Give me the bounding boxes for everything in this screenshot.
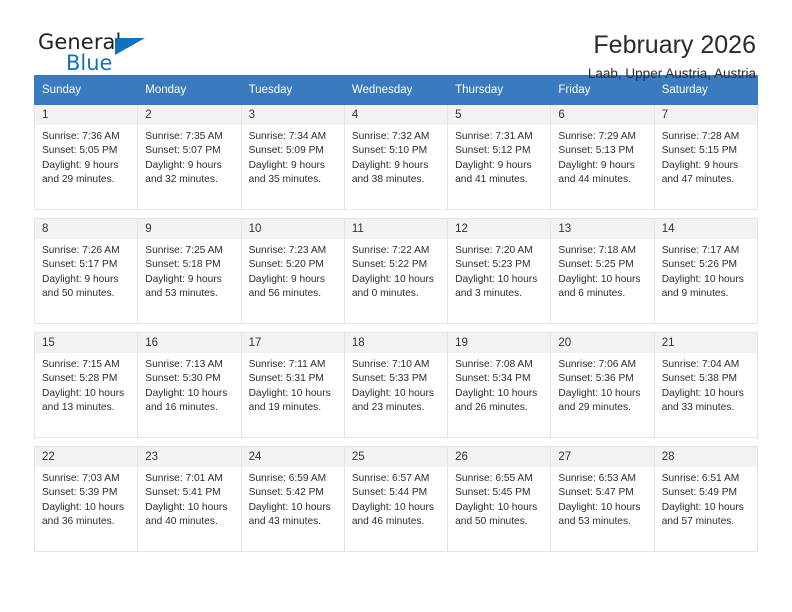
day-cell[interactable]: 5 Sunrise: 7:31 AM Sunset: 5:12 PM Dayli… [448, 105, 551, 210]
day-number: 14 [655, 219, 757, 239]
daylight-text-line2: and 32 minutes. [145, 173, 234, 187]
daylight-text-line2: and 0 minutes. [352, 287, 441, 301]
day-number: 1 [35, 105, 137, 125]
sunrise-text: Sunrise: 7:18 AM [558, 244, 647, 258]
week-spacer [35, 438, 758, 447]
day-info: Sunrise: 7:32 AM Sunset: 5:10 PM Dayligh… [345, 125, 447, 188]
day-cell[interactable]: 28 Sunrise: 6:51 AM Sunset: 5:49 PM Dayl… [654, 447, 757, 552]
day-number: 3 [242, 105, 344, 125]
sunset-text: Sunset: 5:22 PM [352, 258, 441, 272]
daylight-text-line2: and 41 minutes. [455, 173, 544, 187]
day-cell[interactable]: 1 Sunrise: 7:36 AM Sunset: 5:05 PM Dayli… [35, 105, 138, 210]
daylight-text-line1: Daylight: 10 hours [249, 501, 338, 515]
sunset-text: Sunset: 5:45 PM [455, 486, 544, 500]
day-number: 16 [138, 333, 240, 353]
daylight-text-line1: Daylight: 10 hours [558, 273, 647, 287]
sunrise-text: Sunrise: 7:17 AM [662, 244, 751, 258]
sunrise-text: Sunrise: 7:10 AM [352, 358, 441, 372]
week-spacer-cell [35, 210, 758, 219]
daylight-text-line1: Daylight: 10 hours [558, 387, 647, 401]
day-info: Sunrise: 7:13 AM Sunset: 5:30 PM Dayligh… [138, 353, 240, 416]
day-cell[interactable]: 8 Sunrise: 7:26 AM Sunset: 5:17 PM Dayli… [35, 219, 138, 324]
week-spacer [35, 210, 758, 219]
daylight-text-line2: and 43 minutes. [249, 515, 338, 529]
day-cell[interactable]: 3 Sunrise: 7:34 AM Sunset: 5:09 PM Dayli… [241, 105, 344, 210]
day-cell[interactable]: 26 Sunrise: 6:55 AM Sunset: 5:45 PM Dayl… [448, 447, 551, 552]
day-cell[interactable]: 16 Sunrise: 7:13 AM Sunset: 5:30 PM Dayl… [138, 333, 241, 438]
weekday-header-thursday: Thursday [448, 76, 551, 105]
day-info: Sunrise: 7:11 AM Sunset: 5:31 PM Dayligh… [242, 353, 344, 416]
daylight-text-line2: and 36 minutes. [42, 515, 131, 529]
day-cell[interactable]: 9 Sunrise: 7:25 AM Sunset: 5:18 PM Dayli… [138, 219, 241, 324]
day-number: 12 [448, 219, 550, 239]
sunrise-text: Sunrise: 7:15 AM [42, 358, 131, 372]
sunrise-sunset-calendar: Sunday Monday Tuesday Wednesday Thursday… [34, 75, 758, 552]
day-cell[interactable]: 2 Sunrise: 7:35 AM Sunset: 5:07 PM Dayli… [138, 105, 241, 210]
logo-text-blue: Blue [66, 51, 112, 75]
day-info: Sunrise: 7:29 AM Sunset: 5:13 PM Dayligh… [551, 125, 653, 188]
daylight-text-line2: and 16 minutes. [145, 401, 234, 415]
day-info: Sunrise: 7:20 AM Sunset: 5:23 PM Dayligh… [448, 239, 550, 302]
sunset-text: Sunset: 5:15 PM [662, 144, 751, 158]
day-info: Sunrise: 6:57 AM Sunset: 5:44 PM Dayligh… [345, 467, 447, 530]
calendar-week-row: 22 Sunrise: 7:03 AM Sunset: 5:39 PM Dayl… [35, 447, 758, 552]
day-cell[interactable]: 11 Sunrise: 7:22 AM Sunset: 5:22 PM Dayl… [344, 219, 447, 324]
sunset-text: Sunset: 5:23 PM [455, 258, 544, 272]
day-cell[interactable]: 13 Sunrise: 7:18 AM Sunset: 5:25 PM Dayl… [551, 219, 654, 324]
daylight-text-line1: Daylight: 10 hours [42, 501, 131, 515]
daylight-text-line2: and 38 minutes. [352, 173, 441, 187]
sunset-text: Sunset: 5:12 PM [455, 144, 544, 158]
daylight-text-line1: Daylight: 10 hours [455, 273, 544, 287]
sunset-text: Sunset: 5:28 PM [42, 372, 131, 386]
title-block: February 2026 Laab, Upper Austria, Austr… [588, 30, 758, 84]
sunrise-text: Sunrise: 6:51 AM [662, 472, 751, 486]
day-number: 13 [551, 219, 653, 239]
day-cell[interactable]: 27 Sunrise: 6:53 AM Sunset: 5:47 PM Dayl… [551, 447, 654, 552]
sunset-text: Sunset: 5:05 PM [42, 144, 131, 158]
daylight-text-line2: and 50 minutes. [455, 515, 544, 529]
daylight-text-line2: and 53 minutes. [558, 515, 647, 529]
page-title: February 2026 [588, 30, 756, 60]
sunrise-text: Sunrise: 7:13 AM [145, 358, 234, 372]
sunrise-text: Sunrise: 7:28 AM [662, 130, 751, 144]
day-info: Sunrise: 6:55 AM Sunset: 5:45 PM Dayligh… [448, 467, 550, 530]
day-info: Sunrise: 7:18 AM Sunset: 5:25 PM Dayligh… [551, 239, 653, 302]
sunrise-text: Sunrise: 7:08 AM [455, 358, 544, 372]
weekday-header-wednesday: Wednesday [344, 76, 447, 105]
day-number: 17 [242, 333, 344, 353]
sunrise-text: Sunrise: 7:11 AM [249, 358, 338, 372]
sunrise-text: Sunrise: 6:55 AM [455, 472, 544, 486]
day-number: 6 [551, 105, 653, 125]
day-info: Sunrise: 7:15 AM Sunset: 5:28 PM Dayligh… [35, 353, 137, 416]
sunset-text: Sunset: 5:10 PM [352, 144, 441, 158]
sunrise-text: Sunrise: 7:23 AM [249, 244, 338, 258]
sunrise-text: Sunrise: 6:57 AM [352, 472, 441, 486]
calendar-page: General Blue February 2026 Laab, Upper A… [0, 0, 792, 612]
week-spacer-cell [35, 438, 758, 447]
day-info: Sunrise: 7:28 AM Sunset: 5:15 PM Dayligh… [655, 125, 757, 188]
sunset-text: Sunset: 5:33 PM [352, 372, 441, 386]
daylight-text-line1: Daylight: 10 hours [42, 387, 131, 401]
sunset-text: Sunset: 5:13 PM [558, 144, 647, 158]
sunset-text: Sunset: 5:42 PM [249, 486, 338, 500]
daylight-text-line1: Daylight: 10 hours [662, 501, 751, 515]
daylight-text-line2: and 57 minutes. [662, 515, 751, 529]
daylight-text-line2: and 56 minutes. [249, 287, 338, 301]
sunset-text: Sunset: 5:39 PM [42, 486, 131, 500]
day-info: Sunrise: 6:51 AM Sunset: 5:49 PM Dayligh… [655, 467, 757, 530]
daylight-text-line2: and 13 minutes. [42, 401, 131, 415]
daylight-text-line1: Daylight: 9 hours [249, 273, 338, 287]
day-number: 23 [138, 447, 240, 467]
day-number: 26 [448, 447, 550, 467]
daylight-text-line1: Daylight: 9 hours [145, 159, 234, 173]
daylight-text-line1: Daylight: 10 hours [455, 387, 544, 401]
day-info: Sunrise: 7:26 AM Sunset: 5:17 PM Dayligh… [35, 239, 137, 302]
day-cell[interactable]: 7 Sunrise: 7:28 AM Sunset: 5:15 PM Dayli… [654, 105, 757, 210]
day-info: Sunrise: 7:04 AM Sunset: 5:38 PM Dayligh… [655, 353, 757, 416]
daylight-text-line2: and 23 minutes. [352, 401, 441, 415]
daylight-text-line2: and 35 minutes. [249, 173, 338, 187]
day-number: 21 [655, 333, 757, 353]
day-number: 20 [551, 333, 653, 353]
day-number: 5 [448, 105, 550, 125]
sunset-text: Sunset: 5:17 PM [42, 258, 131, 272]
sunset-text: Sunset: 5:38 PM [662, 372, 751, 386]
daylight-text-line2: and 47 minutes. [662, 173, 751, 187]
sunset-text: Sunset: 5:36 PM [558, 372, 647, 386]
daylight-text-line1: Daylight: 10 hours [352, 387, 441, 401]
day-info: Sunrise: 6:53 AM Sunset: 5:47 PM Dayligh… [551, 467, 653, 530]
sunrise-text: Sunrise: 7:25 AM [145, 244, 234, 258]
sunrise-text: Sunrise: 7:32 AM [352, 130, 441, 144]
daylight-text-line1: Daylight: 9 hours [249, 159, 338, 173]
daylight-text-line1: Daylight: 10 hours [145, 387, 234, 401]
calendar-week-row: 8 Sunrise: 7:26 AM Sunset: 5:17 PM Dayli… [35, 219, 758, 324]
day-info: Sunrise: 7:08 AM Sunset: 5:34 PM Dayligh… [448, 353, 550, 416]
day-cell[interactable]: 12 Sunrise: 7:20 AM Sunset: 5:23 PM Dayl… [448, 219, 551, 324]
day-cell[interactable]: 23 Sunrise: 7:01 AM Sunset: 5:41 PM Dayl… [138, 447, 241, 552]
daylight-text-line1: Daylight: 10 hours [145, 501, 234, 515]
daylight-text-line2: and 29 minutes. [558, 401, 647, 415]
sunrise-text: Sunrise: 7:36 AM [42, 130, 131, 144]
day-number: 8 [35, 219, 137, 239]
day-info: Sunrise: 7:10 AM Sunset: 5:33 PM Dayligh… [345, 353, 447, 416]
day-info: Sunrise: 7:17 AM Sunset: 5:26 PM Dayligh… [655, 239, 757, 302]
day-number: 9 [138, 219, 240, 239]
daylight-text-line1: Daylight: 9 hours [455, 159, 544, 173]
sunset-text: Sunset: 5:41 PM [145, 486, 234, 500]
day-cell[interactable]: 17 Sunrise: 7:11 AM Sunset: 5:31 PM Dayl… [241, 333, 344, 438]
day-info: Sunrise: 7:01 AM Sunset: 5:41 PM Dayligh… [138, 467, 240, 530]
day-info: Sunrise: 6:59 AM Sunset: 5:42 PM Dayligh… [242, 467, 344, 530]
day-number: 22 [35, 447, 137, 467]
sunset-text: Sunset: 5:47 PM [558, 486, 647, 500]
daylight-text-line1: Daylight: 10 hours [352, 273, 441, 287]
day-number: 2 [138, 105, 240, 125]
daylight-text-line2: and 53 minutes. [145, 287, 234, 301]
sunset-text: Sunset: 5:07 PM [145, 144, 234, 158]
sunset-text: Sunset: 5:09 PM [249, 144, 338, 158]
daylight-text-line1: Daylight: 10 hours [352, 501, 441, 515]
general-blue-logo[interactable]: General Blue [38, 30, 158, 82]
sunrise-text: Sunrise: 7:26 AM [42, 244, 131, 258]
day-cell[interactable]: 19 Sunrise: 7:08 AM Sunset: 5:34 PM Dayl… [448, 333, 551, 438]
daylight-text-line1: Daylight: 9 hours [558, 159, 647, 173]
page-header: General Blue February 2026 Laab, Upper A… [34, 0, 758, 68]
day-number: 28 [655, 447, 757, 467]
sunrise-text: Sunrise: 7:06 AM [558, 358, 647, 372]
day-number: 27 [551, 447, 653, 467]
day-number: 7 [655, 105, 757, 125]
day-number: 11 [345, 219, 447, 239]
sunset-text: Sunset: 5:26 PM [662, 258, 751, 272]
sunset-text: Sunset: 5:31 PM [249, 372, 338, 386]
logo-triangle-icon [115, 38, 145, 55]
sunrise-text: Sunrise: 7:35 AM [145, 130, 234, 144]
daylight-text-line1: Daylight: 10 hours [662, 273, 751, 287]
daylight-text-line2: and 46 minutes. [352, 515, 441, 529]
daylight-text-line1: Daylight: 9 hours [352, 159, 441, 173]
day-info: Sunrise: 7:03 AM Sunset: 5:39 PM Dayligh… [35, 467, 137, 530]
day-number: 10 [242, 219, 344, 239]
sunset-text: Sunset: 5:44 PM [352, 486, 441, 500]
sunset-text: Sunset: 5:18 PM [145, 258, 234, 272]
weekday-header-tuesday: Tuesday [241, 76, 344, 105]
day-number: 19 [448, 333, 550, 353]
daylight-text-line2: and 19 minutes. [249, 401, 338, 415]
daylight-text-line2: and 40 minutes. [145, 515, 234, 529]
sunrise-text: Sunrise: 7:01 AM [145, 472, 234, 486]
day-cell[interactable]: 20 Sunrise: 7:06 AM Sunset: 5:36 PM Dayl… [551, 333, 654, 438]
day-info: Sunrise: 7:35 AM Sunset: 5:07 PM Dayligh… [138, 125, 240, 188]
day-cell[interactable]: 10 Sunrise: 7:23 AM Sunset: 5:20 PM Dayl… [241, 219, 344, 324]
sunset-text: Sunset: 5:30 PM [145, 372, 234, 386]
daylight-text-line1: Daylight: 10 hours [662, 387, 751, 401]
day-info: Sunrise: 7:23 AM Sunset: 5:20 PM Dayligh… [242, 239, 344, 302]
day-cell[interactable]: 14 Sunrise: 7:17 AM Sunset: 5:26 PM Dayl… [654, 219, 757, 324]
day-number: 24 [242, 447, 344, 467]
sunset-text: Sunset: 5:20 PM [249, 258, 338, 272]
daylight-text-line1: Daylight: 9 hours [42, 159, 131, 173]
day-info: Sunrise: 7:31 AM Sunset: 5:12 PM Dayligh… [448, 125, 550, 188]
day-cell[interactable]: 4 Sunrise: 7:32 AM Sunset: 5:10 PM Dayli… [344, 105, 447, 210]
day-number: 15 [35, 333, 137, 353]
week-spacer [35, 324, 758, 333]
daylight-text-line2: and 6 minutes. [558, 287, 647, 301]
sunrise-text: Sunrise: 7:03 AM [42, 472, 131, 486]
sunset-text: Sunset: 5:49 PM [662, 486, 751, 500]
sunrise-text: Sunrise: 6:53 AM [558, 472, 647, 486]
sunrise-text: Sunrise: 7:34 AM [249, 130, 338, 144]
daylight-text-line1: Daylight: 10 hours [455, 501, 544, 515]
day-info: Sunrise: 7:06 AM Sunset: 5:36 PM Dayligh… [551, 353, 653, 416]
sunrise-text: Sunrise: 7:29 AM [558, 130, 647, 144]
sunrise-text: Sunrise: 7:22 AM [352, 244, 441, 258]
calendar-week-row: 15 Sunrise: 7:15 AM Sunset: 5:28 PM Dayl… [35, 333, 758, 438]
daylight-text-line1: Daylight: 9 hours [662, 159, 751, 173]
daylight-text-line2: and 33 minutes. [662, 401, 751, 415]
daylight-text-line1: Daylight: 10 hours [558, 501, 647, 515]
daylight-text-line2: and 9 minutes. [662, 287, 751, 301]
sunset-text: Sunset: 5:34 PM [455, 372, 544, 386]
day-cell[interactable]: 6 Sunrise: 7:29 AM Sunset: 5:13 PM Dayli… [551, 105, 654, 210]
daylight-text-line2: and 50 minutes. [42, 287, 131, 301]
calendar-body: 1 Sunrise: 7:36 AM Sunset: 5:05 PM Dayli… [35, 105, 758, 552]
sunset-text: Sunset: 5:25 PM [558, 258, 647, 272]
day-cell[interactable]: 24 Sunrise: 6:59 AM Sunset: 5:42 PM Dayl… [241, 447, 344, 552]
sunrise-text: Sunrise: 6:59 AM [249, 472, 338, 486]
day-info: Sunrise: 7:34 AM Sunset: 5:09 PM Dayligh… [242, 125, 344, 188]
day-info: Sunrise: 7:36 AM Sunset: 5:05 PM Dayligh… [35, 125, 137, 188]
daylight-text-line2: and 3 minutes. [455, 287, 544, 301]
day-number: 4 [345, 105, 447, 125]
day-cell[interactable]: 21 Sunrise: 7:04 AM Sunset: 5:38 PM Dayl… [654, 333, 757, 438]
day-info: Sunrise: 7:25 AM Sunset: 5:18 PM Dayligh… [138, 239, 240, 302]
day-cell[interactable]: 22 Sunrise: 7:03 AM Sunset: 5:39 PM Dayl… [35, 447, 138, 552]
day-number: 25 [345, 447, 447, 467]
sunrise-text: Sunrise: 7:04 AM [662, 358, 751, 372]
day-info: Sunrise: 7:22 AM Sunset: 5:22 PM Dayligh… [345, 239, 447, 302]
calendar-week-row: 1 Sunrise: 7:36 AM Sunset: 5:05 PM Dayli… [35, 105, 758, 210]
week-spacer-cell [35, 324, 758, 333]
daylight-text-line1: Daylight: 9 hours [145, 273, 234, 287]
day-cell[interactable]: 18 Sunrise: 7:10 AM Sunset: 5:33 PM Dayl… [344, 333, 447, 438]
page-subtitle: Laab, Upper Austria, Austria [588, 64, 756, 84]
daylight-text-line2: and 44 minutes. [558, 173, 647, 187]
sunrise-text: Sunrise: 7:20 AM [455, 244, 544, 258]
daylight-text-line2: and 29 minutes. [42, 173, 131, 187]
day-cell[interactable]: 25 Sunrise: 6:57 AM Sunset: 5:44 PM Dayl… [344, 447, 447, 552]
daylight-text-line1: Daylight: 10 hours [249, 387, 338, 401]
day-number: 18 [345, 333, 447, 353]
daylight-text-line2: and 26 minutes. [455, 401, 544, 415]
sunrise-text: Sunrise: 7:31 AM [455, 130, 544, 144]
day-cell[interactable]: 15 Sunrise: 7:15 AM Sunset: 5:28 PM Dayl… [35, 333, 138, 438]
daylight-text-line1: Daylight: 9 hours [42, 273, 131, 287]
